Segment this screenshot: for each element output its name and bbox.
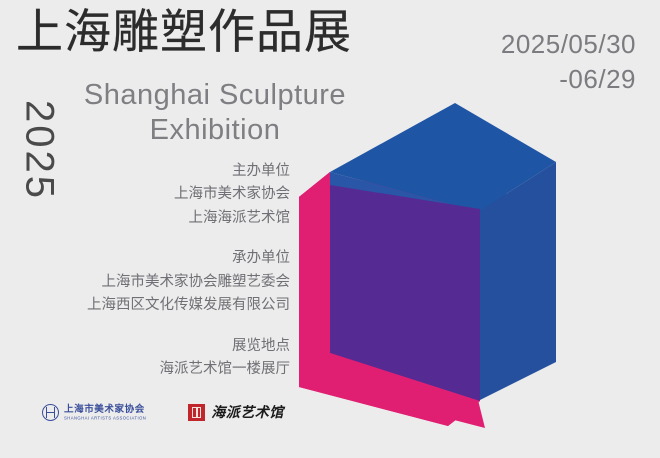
logo-label-en: SHANGHAI ARTISTS ASSOCIATION xyxy=(64,415,146,421)
info-heading: 主办单位 xyxy=(0,160,290,183)
logo-label-cn: 上海市美术家协会 xyxy=(64,405,146,416)
logo-haipai-art-museum: 海派艺术馆 xyxy=(188,404,284,421)
info-blocks: 主办单位 上海市美术家协会 上海海派艺术馆 承办单位 上海市美术家协会雕塑艺委会… xyxy=(0,160,290,399)
info-line: 海派艺术馆一楼展厅 xyxy=(0,358,290,381)
plane-front-left xyxy=(299,185,330,387)
info-block-venue: 展览地点 海派艺术馆一楼展厅 xyxy=(0,335,290,382)
logo-label-cn: 海派艺术馆 xyxy=(211,406,284,420)
date-end: -06/29 xyxy=(501,62,636,97)
plane-left-body xyxy=(299,172,338,390)
plane-lower-band xyxy=(306,386,485,428)
subtitle-line-1: Shanghai Sculpture xyxy=(60,78,370,113)
exhibition-date: 2025/05/30 -06/29 xyxy=(501,27,636,97)
info-line: 上海市美术家协会雕塑艺委会 xyxy=(0,271,290,294)
overlap-shape xyxy=(330,185,480,401)
english-subtitle: Shanghai Sculpture Exhibition xyxy=(60,78,370,149)
logo-shanghai-artists-association: 上海市美术家协会 SHANGHAI ARTISTS ASSOCIATION xyxy=(42,404,146,421)
plane-left-part xyxy=(299,172,338,390)
cube-right-face xyxy=(478,176,556,401)
subtitle-line-2: Exhibition xyxy=(60,113,370,148)
info-line: 上海市美术家协会 xyxy=(0,183,290,206)
plane-shape xyxy=(299,173,480,426)
info-block-organizer: 主办单位 上海市美术家协会 上海海派艺术馆 xyxy=(0,160,290,230)
plane-front-lower xyxy=(299,353,480,426)
haipai-seal-icon xyxy=(188,404,205,421)
shanghai-artists-association-emblem-icon xyxy=(42,404,59,421)
info-heading: 展览地点 xyxy=(0,335,290,358)
cube-left-face xyxy=(330,172,478,401)
exhibition-poster: 上海雕塑作品展 2025 Shanghai Sculpture Exhibiti… xyxy=(0,0,660,458)
cube-right-face-2 xyxy=(478,162,556,401)
info-line: 上海海派艺术馆 xyxy=(0,207,290,230)
page-title: 上海雕塑作品展 xyxy=(16,8,352,55)
date-start: 2025/05/30 xyxy=(501,27,636,62)
magenta-plane xyxy=(299,172,478,425)
info-heading: 承办单位 xyxy=(0,247,290,270)
info-block-co-organizer: 承办单位 上海市美术家协会雕塑艺委会 上海西区文化传媒发展有限公司 xyxy=(0,247,290,317)
logo-row: 上海市美术家协会 SHANGHAI ARTISTS ASSOCIATION 海派… xyxy=(42,404,284,421)
info-line: 上海西区文化传媒发展有限公司 xyxy=(0,294,290,317)
